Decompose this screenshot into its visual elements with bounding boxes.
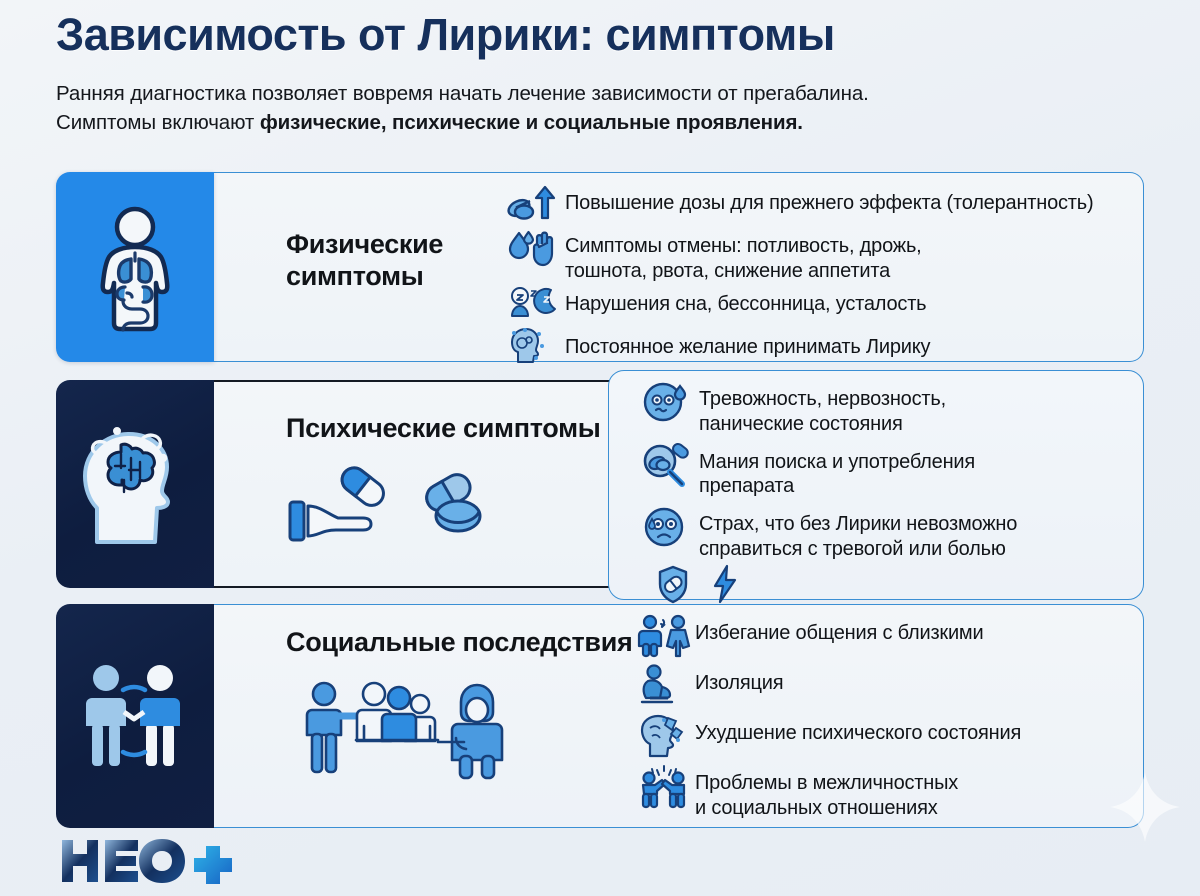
- hand-holding-pills-icon: [286, 458, 536, 550]
- sleepy-face-moon-icon: [508, 285, 554, 327]
- two-people-connection-icon: [76, 660, 194, 772]
- card-social-decor: [298, 672, 588, 790]
- brand-logo[interactable]: [60, 838, 232, 884]
- list-item-text: Мания поиска и употребления препарата: [699, 443, 975, 500]
- list-item-text: Нарушения сна, бессонница, усталость: [565, 285, 926, 317]
- sweat-drop-trembling-hand-icon: [508, 227, 554, 269]
- list-item-text: Симптомы отмены: потливость, дрожь, тошн…: [565, 227, 922, 284]
- list-item-text: Ухудшение психического состояния: [695, 714, 1021, 746]
- card-mental-decor: [286, 458, 536, 550]
- list-item: Проблемы в межличностных и социальных от…: [638, 764, 1021, 821]
- card-physical-icon-pane: [56, 172, 214, 362]
- page-subtitle: Ранняя диагностика позволяет вовремя нач…: [56, 79, 1156, 137]
- page-header: Зависимость от Лирики: симптомы Ранняя д…: [56, 8, 1156, 137]
- card-physical-symptoms: Физические симптомы Повышение дозы для п…: [56, 172, 1144, 362]
- card-mental-icon-pane: [56, 380, 214, 588]
- head-broken-mind-icon: [638, 714, 684, 756]
- human-body-organs-icon: [81, 203, 189, 331]
- lightning-bolt-icon: [713, 564, 741, 606]
- worried-face-icon: [642, 505, 688, 547]
- group-avoidance-icon: [298, 672, 588, 790]
- card-physical-list: Повышение дозы для прежнего эффекта (тол…: [508, 184, 1093, 371]
- list-item: Симптомы отмены: потливость, дрожь, тошн…: [508, 227, 1093, 284]
- card-social-icon-pane: [56, 604, 214, 828]
- list-item: Избегание общения с близкими: [638, 614, 1021, 656]
- list-item-text: Постоянное желание принимать Лирику: [565, 328, 930, 360]
- neo-plus-logo-icon[interactable]: [60, 838, 232, 884]
- list-item: Нарушения сна, бессонница, усталость: [508, 285, 1093, 327]
- card-mental-list: Тревожность, нервозность, панические сос…: [642, 380, 1017, 612]
- subtitle-line-1: Ранняя диагностика позволяет вовремя нач…: [56, 79, 1156, 108]
- list-item: Тревожность, нервозность, панические сос…: [642, 380, 1017, 437]
- head-brain-icon: [77, 422, 193, 546]
- craving-head-icon: [508, 328, 554, 370]
- list-item-text: Изоляция: [695, 664, 783, 696]
- subtitle-plain: Симптомы включают: [56, 111, 260, 134]
- conflict-people-icon: [638, 764, 684, 806]
- card-social-consequences: Социальные последствия: [56, 604, 1144, 828]
- list-item-text: Избегание общения с близкими: [695, 614, 983, 646]
- list-item: Мания поиска и употребления препарата: [642, 443, 1017, 500]
- list-item: Постоянное желание принимать Лирику: [508, 328, 1093, 370]
- list-item-text: Проблемы в межличностных и социальных от…: [695, 764, 958, 821]
- list-item: Повышение дозы для прежнего эффекта (тол…: [508, 184, 1093, 226]
- sitting-alone-icon: [638, 664, 684, 706]
- list-item-text: Страх, что без Лирики невозможно справит…: [699, 505, 1017, 562]
- list-item-text: Повышение дозы для прежнего эффекта (тол…: [565, 184, 1093, 216]
- anxious-face-icon: [642, 380, 688, 422]
- list-item: Ухудшение психического состояния: [638, 714, 1021, 756]
- shield-pill-icon: [656, 564, 702, 606]
- list-item: Изоляция: [638, 664, 1021, 706]
- card-social-list: Избегание общения с близкими Изоляция: [638, 614, 1021, 829]
- card-physical-title: Физические симптомы: [286, 228, 443, 293]
- magnifier-pills-icon: [642, 443, 688, 485]
- subtitle-line-2: Симптомы включают физические, психически…: [56, 108, 1156, 137]
- avoiding-people-icon: [638, 614, 684, 656]
- card-mental-symptoms: Психические симптомы: [56, 380, 1144, 588]
- card-social-title: Социальные последствия: [286, 626, 632, 658]
- page-title: Зависимость от Лирики: симптомы: [56, 8, 1156, 61]
- pills-up-arrow-icon: [508, 184, 554, 226]
- card-mental-title: Психические симптомы: [286, 412, 601, 444]
- list-item-text: Тревожность, нервозность, панические сос…: [699, 380, 946, 437]
- subtitle-bold: физические, психические и социальные про…: [260, 111, 803, 134]
- card-mental-footer-icons: [642, 564, 1017, 606]
- list-item: Страх, что без Лирики невозможно справит…: [642, 505, 1017, 562]
